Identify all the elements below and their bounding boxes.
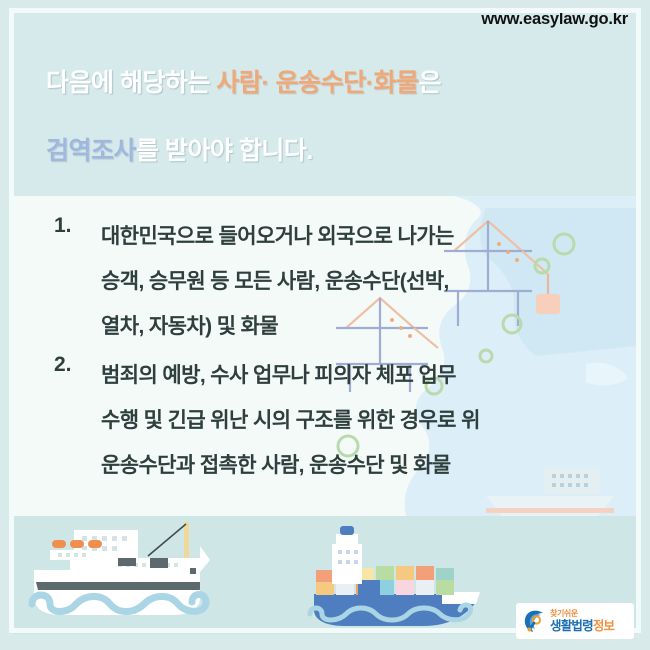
list-item-line: 범죄의 예방, 수사 업무나 피의자 체포 업무 bbox=[101, 353, 576, 398]
headline-line-2: 검역조사를 받아야 합니다. bbox=[46, 131, 313, 167]
headline-text-highlight: 사람· 운송수단·화물 bbox=[216, 69, 418, 97]
headline-text-plain: 다음에 해당하는 bbox=[46, 69, 216, 97]
requirement-list: 1. 대한민국으로 들어오거나 외국으로 나가는 승객, 승무원 등 모든 사람… bbox=[46, 214, 576, 492]
logo-tagline: 찾기쉬운 bbox=[550, 610, 614, 618]
headline-text-suffix: 은 bbox=[419, 69, 442, 97]
infographic-card: www.easylaw.go.kr 다음에 해당하는 사람· 운송수단·화물은 … bbox=[0, 0, 650, 650]
list-item-line: 수행 및 긴급 위난 시의 구조를 위한 경우로 위 bbox=[101, 398, 576, 443]
logo-text: 찾기쉬운 생활법령정보 bbox=[550, 610, 614, 633]
logo-name: 생활법령정보 bbox=[550, 620, 614, 633]
lifeboat-icon bbox=[52, 540, 102, 548]
list-item-line: 열차, 자동차) 및 화물 bbox=[101, 304, 576, 349]
site-url: www.easylaw.go.kr bbox=[481, 10, 628, 29]
logo-name-part2: 정보 bbox=[593, 619, 614, 633]
list-item-number: 2. bbox=[54, 353, 72, 377]
list-item: 2. 범죄의 예방, 수사 업무나 피의자 체포 업무 수행 및 긴급 위난 시… bbox=[46, 353, 576, 488]
headline-line-1: 다음에 해당하는 사람· 운송수단·화물은 bbox=[46, 63, 441, 99]
headline-text-rest: 를 받아야 합니다. bbox=[136, 137, 313, 165]
logo-name-part1: 생활법령 bbox=[550, 619, 593, 633]
headline-keyword: 검역조사 bbox=[46, 137, 136, 165]
list-item-line: 승객, 승무원 등 모든 사람, 운송수단(선박, bbox=[101, 259, 576, 304]
magnifier-swirl-icon bbox=[522, 608, 548, 634]
list-item-number: 1. bbox=[54, 214, 72, 238]
headline-band bbox=[14, 13, 636, 198]
list-item-line: 운송수단과 접촉한 사람, 운송수단 및 화물 bbox=[101, 443, 576, 488]
list-item-line: 대한민국으로 들어오거나 외국으로 나가는 bbox=[101, 214, 576, 259]
list-item: 1. 대한민국으로 들어오거나 외국으로 나가는 승객, 승무원 등 모든 사람… bbox=[46, 214, 576, 349]
easylaw-logo[interactable]: 찾기쉬운 생활법령정보 bbox=[516, 603, 634, 639]
